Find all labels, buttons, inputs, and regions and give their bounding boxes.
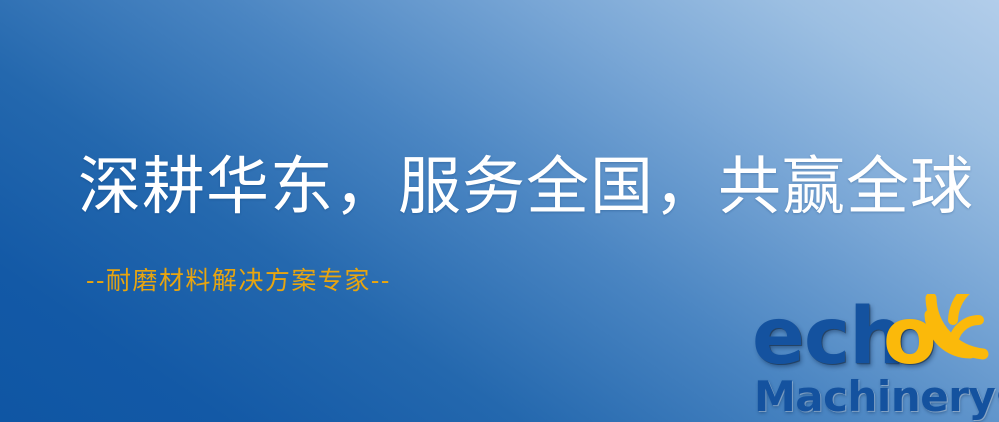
banner-headline: 深耕华东，服务全国，共赢全球 bbox=[78, 148, 948, 226]
logo-wordmark-echo: ech o bbox=[744, 296, 996, 376]
banner-subtitle: --耐磨材料解决方案专家-- bbox=[86, 264, 391, 298]
echo-signal-arcs-icon bbox=[923, 294, 999, 360]
logo-text-machinery: Machinery bbox=[754, 372, 995, 421]
company-logo[interactable]: ech o Machinery® bbox=[744, 296, 996, 420]
logo-text-ech: ech bbox=[752, 292, 904, 382]
registered-trademark-symbol: ® bbox=[995, 384, 999, 408]
logo-wordmark-machinery: Machinery® bbox=[754, 372, 999, 421]
promotional-banner: 深耕华东，服务全国，共赢全球 --耐磨材料解决方案专家-- ech o bbox=[0, 0, 999, 422]
